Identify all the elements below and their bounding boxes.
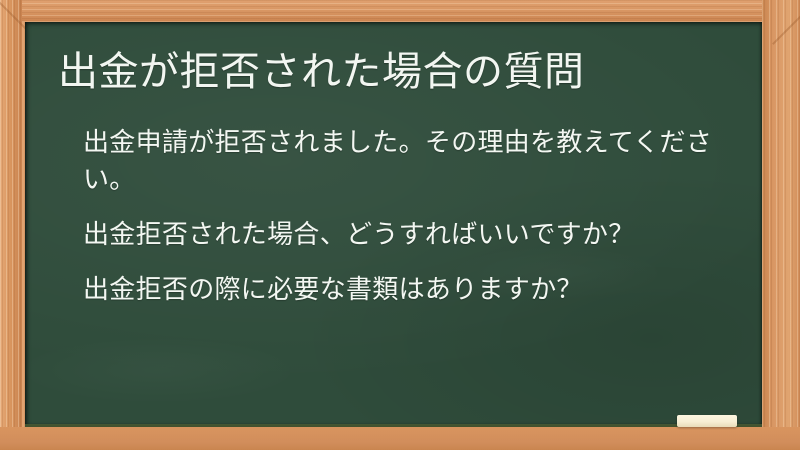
chalk-stick: [677, 415, 737, 427]
frame-ledge-bottom: [0, 427, 800, 450]
slide-title: 出金が拒否された場合の質問: [58, 49, 585, 96]
frame-rail-right: [762, 0, 800, 450]
frame-rail-top: [0, 0, 800, 22]
list-item: 出金拒否の際に必要な書類はありますか？: [83, 272, 716, 309]
frame-rail-left: [0, 0, 22, 450]
chalkboard-slide: 出金が拒否された場合の質問 出金申請が拒否されました。その理由を教えてください。…: [0, 0, 800, 450]
board-bottom-lip: [25, 424, 762, 427]
question-list: 出金申請が拒否されました。その理由を教えてください。 出金拒否された場合、どうす…: [83, 125, 716, 309]
chalkboard-surface: 出金が拒否された場合の質問 出金申請が拒否されました。その理由を教えてください。…: [25, 22, 762, 427]
list-item: 出金申請が拒否されました。その理由を教えてください。: [83, 125, 716, 199]
list-item: 出金拒否された場合、どうすればいいですか？: [83, 217, 716, 254]
